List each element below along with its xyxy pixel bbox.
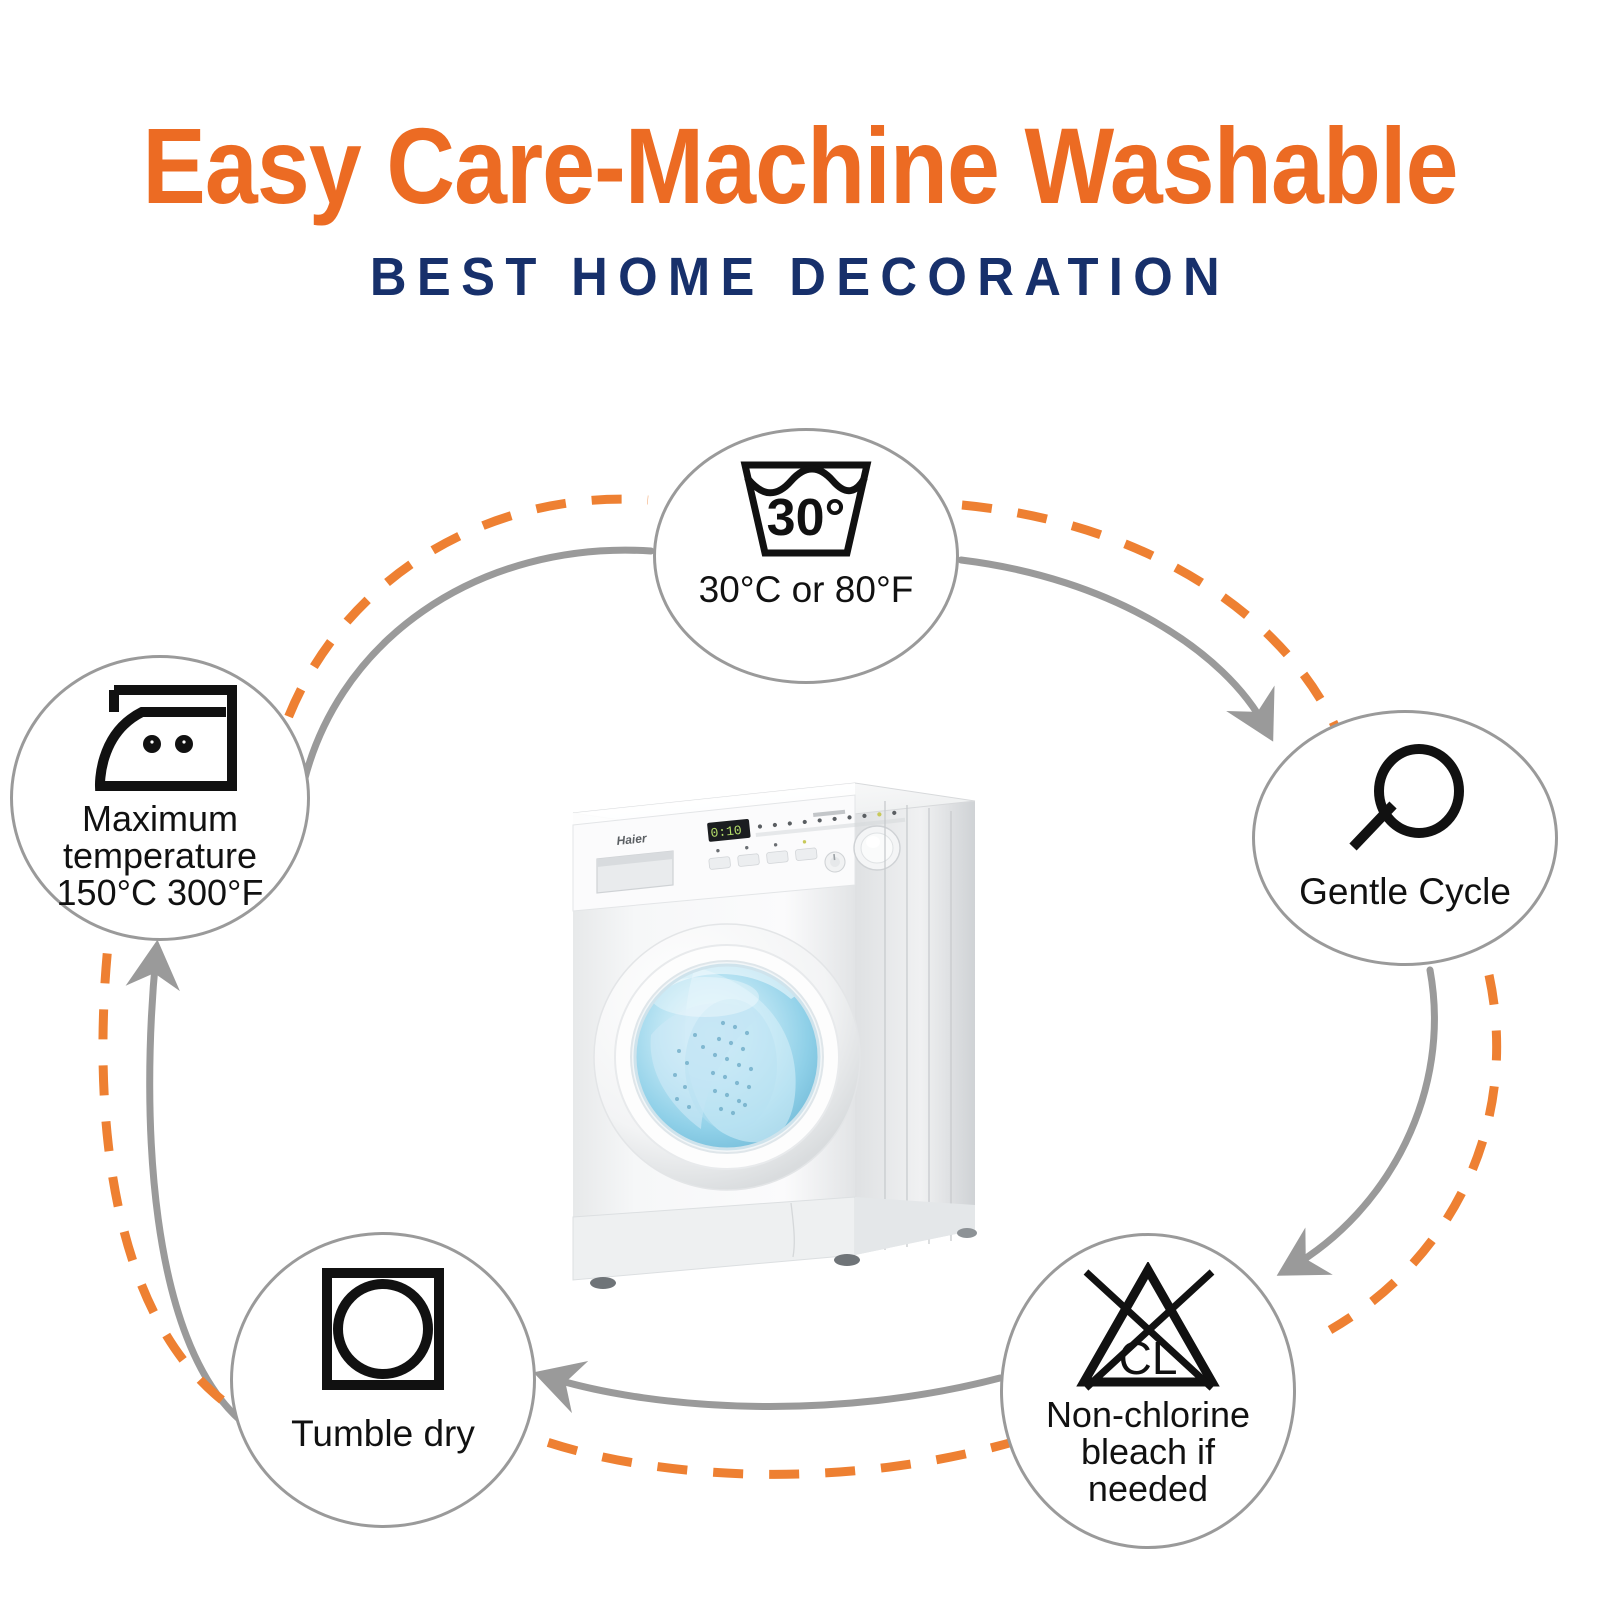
dashed-arc-tumble-to-iron: [103, 945, 222, 1400]
care-node-wash-temperature[interactable]: 30° 30°C or 80°F: [653, 428, 959, 684]
tumble-dry-icon: [319, 1265, 447, 1393]
wash-tub-temp-text: 30°: [767, 489, 846, 547]
washing-machine-illustration: Haier 0:10: [555, 735, 1015, 1315]
care-node-label-iron: Maximum temperature 150°C 300°F: [57, 800, 264, 911]
arc-tumble-to-iron: [150, 955, 240, 1420]
dashed-arc-bleach-to-tumble: [535, 1438, 1020, 1474]
dashed-arc-iron-to-wash: [272, 499, 648, 770]
iron-two-dots-icon: [80, 682, 240, 794]
washer-program-knob[interactable]: [854, 826, 900, 870]
washer-foot-left: [590, 1277, 616, 1289]
washer-foot-back: [957, 1228, 977, 1238]
care-cycle-diagram: Haier 0:10: [0, 0, 1600, 1600]
gentle-cycle-icon: [1341, 743, 1469, 861]
care-node-iron-temperature[interactable]: Maximum temperature 150°C 300°F: [10, 655, 310, 941]
washer-foot-right: [834, 1254, 860, 1266]
wash-tub-30-icon: 30°: [735, 457, 877, 561]
care-node-non-chlorine-bleach[interactable]: CL Non-chlorine bleach if needed: [1000, 1233, 1296, 1549]
arc-bleach-to-tumble: [548, 1377, 1000, 1406]
dashed-arc-gentle-to-bleach: [1330, 975, 1497, 1330]
care-node-label-bleach: Non-chlorine bleach if needed: [1046, 1396, 1250, 1507]
arc-wash-to-gentle: [961, 560, 1266, 728]
non-chlorine-bleach-icon: CL: [1072, 1262, 1224, 1394]
care-node-tumble-dry[interactable]: Tumble dry: [230, 1232, 536, 1528]
care-node-label-tumble: Tumble dry: [291, 1415, 475, 1453]
care-node-label-wash: 30°C or 80°F: [699, 571, 914, 609]
care-node-gentle-cycle[interactable]: Gentle Cycle: [1252, 710, 1558, 966]
washer-plinth-side: [855, 1197, 975, 1255]
bleach-cl-text: CL: [1119, 1332, 1178, 1384]
care-node-label-gentle: Gentle Cycle: [1299, 873, 1511, 911]
arc-gentle-to-bleach: [1290, 970, 1434, 1268]
washer-display-value: 0:10: [710, 823, 743, 841]
